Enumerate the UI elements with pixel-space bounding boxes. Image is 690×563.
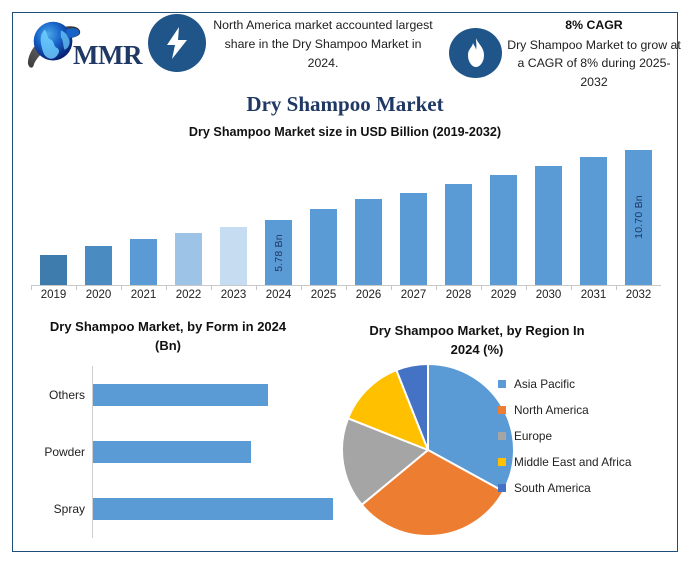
infographic-root: MMR North America market accounted large… xyxy=(0,0,690,563)
pie-legend: Asia PacificNorth AmericaEuropeMiddle Ea… xyxy=(498,377,631,495)
bar xyxy=(355,199,382,285)
x-axis-label: 2023 xyxy=(211,289,256,301)
hbar-title-line1: Dry Shampoo Market, by Form in 2024 xyxy=(50,319,286,334)
legend-swatch xyxy=(498,458,506,466)
pie-graphic xyxy=(338,360,518,540)
hbar-row: Spray xyxy=(93,498,333,520)
x-axis-label: 2021 xyxy=(121,289,166,301)
hbar-row: Powder xyxy=(93,441,333,463)
bar xyxy=(400,193,427,285)
legend-item: Middle East and Africa xyxy=(498,455,631,469)
market-size-bar-chart: Dry Shampoo Market size in USD Billion (… xyxy=(0,125,690,310)
hbar-bar xyxy=(93,384,268,406)
header: MMR North America market accounted large… xyxy=(0,0,690,92)
flame-icon xyxy=(449,28,502,78)
market-by-region-chart: Dry Shampoo Market, by Region In 2024 (%… xyxy=(336,322,686,550)
bar xyxy=(445,184,472,285)
legend-label: Middle East and Africa xyxy=(514,455,631,469)
hbar-category-label: Others xyxy=(49,388,85,402)
bar-value-label: 5.78 Bn xyxy=(273,234,285,272)
legend-swatch xyxy=(498,380,506,388)
hbar-bar xyxy=(93,498,333,520)
bar-column xyxy=(526,147,571,285)
bar-column xyxy=(211,147,256,285)
bar-chart-plot: 5.78 Bn10.70 Bn xyxy=(31,147,661,285)
hbar-plot: OthersPowderSpray xyxy=(92,366,332,538)
x-axis-label: 2022 xyxy=(166,289,211,301)
x-axis-label: 2025 xyxy=(301,289,346,301)
legend-item: Asia Pacific xyxy=(498,377,631,391)
market-by-form-chart: Dry Shampoo Market, by Form in 2024 (Bn)… xyxy=(14,318,344,548)
page-title: Dry Shampoo Market xyxy=(0,92,690,117)
bar xyxy=(130,239,157,285)
legend-swatch xyxy=(498,484,506,492)
x-axis-label: 2030 xyxy=(526,289,571,301)
bar-column xyxy=(121,147,166,285)
bar-column xyxy=(391,147,436,285)
pie-title-line1: Dry Shampoo Market, by Region In xyxy=(369,323,584,338)
x-axis-label: 2019 xyxy=(31,289,76,301)
cagr-description: Dry Shampoo Market to grow at a CAGR of … xyxy=(505,36,683,91)
x-axis-label: 2029 xyxy=(481,289,526,301)
logo-text: MMR xyxy=(73,40,142,71)
legend-label: North America xyxy=(514,403,589,417)
bar xyxy=(175,233,202,285)
cagr-badge: 8% CAGR xyxy=(505,18,683,32)
legend-item: North America xyxy=(498,403,631,417)
x-axis-label: 2032 xyxy=(616,289,661,301)
x-axis-label: 2026 xyxy=(346,289,391,301)
bar-column xyxy=(436,147,481,285)
hbar-row: Others xyxy=(93,384,333,406)
x-axis-label: 2028 xyxy=(436,289,481,301)
bar: 10.70 Bn xyxy=(625,150,652,285)
hbar-chart-title: Dry Shampoo Market, by Form in 2024 (Bn) xyxy=(18,318,318,356)
pie-title-line2: 2024 (%) xyxy=(451,342,504,357)
pie-chart-title: Dry Shampoo Market, by Region In 2024 (%… xyxy=(342,322,612,360)
legend-item: South America xyxy=(498,481,631,495)
lightning-bolt-icon xyxy=(148,14,206,72)
flame-glyph xyxy=(465,38,487,68)
hbar-category-label: Powder xyxy=(44,445,85,459)
bar-column xyxy=(166,147,211,285)
bar-column: 5.78 Bn xyxy=(256,147,301,285)
hbar-category-label: Spray xyxy=(54,502,85,516)
x-axis-label: 2020 xyxy=(76,289,121,301)
bar xyxy=(220,227,247,285)
bar-chart-title: Dry Shampoo Market size in USD Billion (… xyxy=(0,125,690,139)
hbar-title-line2: (Bn) xyxy=(155,338,181,353)
bar-column xyxy=(571,147,616,285)
bar-column xyxy=(481,147,526,285)
legend-swatch xyxy=(498,406,506,414)
x-axis-label: 2024 xyxy=(256,289,301,301)
bar-column xyxy=(76,147,121,285)
bolt-glyph xyxy=(164,26,190,60)
bar-column xyxy=(346,147,391,285)
legend-label: Asia Pacific xyxy=(514,377,575,391)
hbar-bar xyxy=(93,441,251,463)
x-axis-label: 2031 xyxy=(571,289,616,301)
bar xyxy=(85,246,112,285)
bar-column xyxy=(301,147,346,285)
cagr-block: 8% CAGR Dry Shampoo Market to grow at a … xyxy=(505,18,683,91)
bar xyxy=(310,209,337,285)
legend-swatch xyxy=(498,432,506,440)
hbar-rows: OthersPowderSpray xyxy=(93,366,333,538)
bar xyxy=(490,175,517,285)
bar-chart-x-labels: 2019202020212022202320242025202620272028… xyxy=(31,289,661,301)
bar-chart-axis xyxy=(31,285,661,286)
legend-item: Europe xyxy=(498,429,631,443)
north-america-highlight: North America market accounted largest s… xyxy=(208,16,438,73)
x-axis-label: 2027 xyxy=(391,289,436,301)
bar-value-label: 10.70 Bn xyxy=(633,196,645,240)
legend-label: Europe xyxy=(514,429,552,443)
bar-column xyxy=(31,147,76,285)
bar-column: 10.70 Bn xyxy=(616,147,661,285)
bar xyxy=(580,157,607,285)
bar xyxy=(40,255,67,285)
mmr-logo: MMR xyxy=(18,14,153,76)
legend-label: South America xyxy=(514,481,591,495)
bar xyxy=(535,166,562,285)
bar: 5.78 Bn xyxy=(265,220,292,285)
